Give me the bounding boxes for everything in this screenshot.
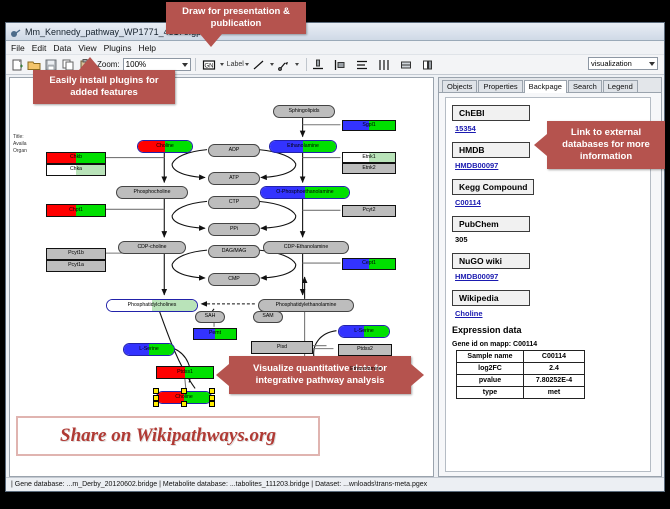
metabolite-node-cmp[interactable]: CMP [208, 273, 260, 286]
line-icon[interactable] [252, 58, 266, 72]
table-row: log2FC 2.4 [457, 363, 585, 375]
group-icon[interactable] [399, 58, 413, 72]
toolbar-divider-2 [306, 58, 307, 71]
node-label: Choline [175, 395, 193, 400]
metabolite-node-choline_top[interactable]: Choline [137, 140, 193, 153]
callout-draw-arrow-icon [200, 34, 222, 47]
canvas-availability-label: Availa [13, 141, 27, 148]
callout-visualize-arrow-right-icon [411, 364, 424, 386]
db-name-chebi: ChEBI [452, 105, 530, 121]
node-label: SAM [262, 314, 273, 319]
metabolite-node-lserine_right[interactable]: L-Serine [338, 325, 390, 338]
tab-search[interactable]: Search [568, 80, 602, 92]
table-row: Sample name C00114 [457, 351, 585, 363]
callout-plugins-arrow-icon [79, 57, 101, 70]
metabolite-node-sphingolipids[interactable]: Sphingolipids [273, 105, 335, 118]
row-value-type: met [524, 387, 585, 399]
selection-handle[interactable] [209, 388, 215, 394]
anchor-icon[interactable] [277, 58, 291, 72]
metabolite-node-cdp_ethanolamine[interactable]: CDP-Ethanolamine [263, 241, 349, 254]
node-label: Sgpl1 [362, 123, 375, 128]
node-label: Pcyt1b [68, 251, 84, 256]
menu-item-file[interactable]: File [11, 43, 25, 53]
node-label: Chka [70, 167, 82, 172]
table-row: pvalue 7.80252E-4 [457, 375, 585, 387]
menu-item-view[interactable]: View [78, 43, 96, 53]
gene-node-chkb[interactable]: Chkb [46, 152, 106, 164]
gene-node-etnk1[interactable]: Etnk1 [342, 152, 396, 163]
db-pubchem: PubChem 305 [452, 214, 650, 244]
gene-node-pcyt1a[interactable]: Pcyt1a [46, 260, 106, 272]
gene-node-pemt[interactable]: Pemt [193, 328, 237, 340]
menu-item-edit[interactable]: Edit [32, 43, 47, 53]
metabolite-node-ppi[interactable]: PPi [208, 223, 260, 236]
row-key-type: type [457, 387, 524, 399]
expression-table: Sample name C00114 log2FC 2.4 pvalue 7.8… [456, 350, 585, 399]
chevron-down-icon [649, 62, 655, 66]
metabolite-node-dagmag[interactable]: DAG/MAG [208, 245, 260, 258]
share-banner-text: Share on Wikipathways.org [60, 425, 276, 447]
node-label: SAH [205, 314, 216, 319]
gene-node-sgpl1[interactable]: Sgpl1 [342, 120, 396, 131]
align-bottom-icon[interactable] [311, 58, 325, 72]
node-label: ADP [229, 148, 240, 153]
menu-item-help[interactable]: Help [139, 43, 156, 53]
node-label: Sphingolipids [289, 109, 320, 114]
metabolite-node-atp[interactable]: ATP [208, 172, 260, 185]
callout-draw: Draw for presentation & publication [166, 2, 306, 34]
callout-links: Link to external databases for more info… [547, 121, 665, 169]
row-key-sample-name: Sample name [457, 351, 524, 363]
chevron-down-icon [182, 63, 188, 67]
node-label: Pcyt2 [363, 208, 376, 213]
node-label: Etnk1 [362, 155, 375, 160]
callout-links-text: Link to external databases for more info… [553, 127, 659, 163]
gene-id-on-mapp: Gene id on mapp: C00114 [452, 341, 650, 348]
toolbar-divider [195, 58, 196, 71]
db-name-hmdb: HMDB [452, 142, 530, 158]
node-label: Ethanolamine [287, 144, 319, 149]
selection-handle[interactable] [153, 401, 159, 407]
row-value-sample-name: C00114 [524, 351, 585, 363]
gene-node-pcyt1b[interactable]: Pcyt1b [46, 248, 106, 260]
line-dropdown-caret-icon[interactable] [270, 63, 274, 66]
node-label: Phosphocholine [134, 190, 171, 195]
metabolite-node-adp[interactable]: ADP [208, 144, 260, 157]
node-label: ATP [229, 176, 239, 181]
anchor-dropdown-caret-icon[interactable] [295, 63, 299, 66]
node-label: PPi [230, 227, 238, 232]
canvas-title-label: Title: [13, 134, 27, 141]
callout-plugins-text: Easily install plugins for added feature… [39, 75, 169, 99]
zoom-value: 100% [126, 60, 146, 69]
node-label: CDP-Ethanolamine [284, 245, 328, 250]
side-tabs: Objects Properties Backpage Search Legen… [439, 78, 661, 93]
db-kegg: Kegg Compound C00114 [452, 177, 650, 207]
node-label: Cept1 [362, 261, 376, 266]
node-label: Pisd [277, 345, 287, 350]
metabolite-node-cdp_choline[interactable]: CDP-choline [118, 241, 186, 254]
node-label: CDP-choline [137, 245, 166, 250]
metabolite-node-o_phosphoethanolamine[interactable]: O-Phosphoethanolamine [260, 186, 350, 199]
db-link-kegg[interactable]: C00114 [455, 198, 650, 207]
selection-handle[interactable] [153, 395, 159, 401]
visualization-select[interactable]: visualization [588, 57, 658, 70]
node-label: O-Phosphoethanolamine [276, 190, 333, 195]
new-icon[interactable] [10, 58, 24, 72]
expression-data-heading: Expression data [452, 325, 650, 335]
gene-node-chpt1[interactable]: Chpt1 [46, 204, 106, 217]
callout-links-arrow-icon [534, 134, 547, 156]
callout-visualize: Visualize quantitative data for integrat… [229, 356, 411, 394]
metabolite-node-lserine_left[interactable]: L-Serine [123, 343, 175, 356]
db-wikipedia: Wikipedia Choline [452, 288, 650, 318]
label-tool-label[interactable]: Label [227, 61, 244, 68]
callout-draw-text: Draw for presentation & publication [172, 6, 300, 30]
row-key-pvalue: pvalue [457, 375, 524, 387]
gene-node-cept1[interactable]: Cept1 [342, 258, 396, 270]
metabolite-node-sam[interactable]: SAM [253, 311, 283, 323]
gene-node-ptdss1[interactable]: Ptdss1 [156, 366, 214, 379]
node-label: Pcyt1a [68, 263, 84, 268]
db-link-nugowiki[interactable]: HMDB00097 [455, 272, 650, 281]
datanode-icon[interactable]: GN [202, 58, 216, 72]
metabolite-node-ctp[interactable]: CTP [208, 196, 260, 209]
node-label: DAG/MAG [222, 249, 247, 254]
selection-handle[interactable] [181, 388, 187, 394]
menu-item-plugins[interactable]: Plugins [104, 43, 132, 53]
canvas-title-meta: Title: Availa Organ [13, 134, 27, 155]
node-label: Chkb [70, 155, 82, 160]
row-value-log2fc: 2.4 [524, 363, 585, 375]
metabolite-node-ethanolamine[interactable]: Ethanolamine [269, 140, 337, 153]
share-banner: Share on Wikipathways.org [16, 416, 320, 456]
db-name-nugowiki: NuGO wiki [452, 253, 530, 269]
label-dropdown-caret-icon[interactable] [245, 63, 249, 66]
row-key-log2fc: log2FC [457, 363, 524, 375]
node-label: L-Serine [139, 347, 159, 352]
gene-node-pisd[interactable]: Pisd [251, 341, 313, 354]
node-label: CTP [229, 200, 239, 205]
db-nugowiki: NuGO wiki HMDB00097 [452, 251, 650, 281]
metabolite-node-phosphocholine[interactable]: Phosphocholine [116, 186, 188, 199]
selection-handle[interactable] [209, 395, 215, 401]
menu-item-data[interactable]: Data [53, 43, 71, 53]
status-text: | Gene database: ...m_Derby_20120602.bri… [11, 481, 427, 488]
gene-node-pcyt2[interactable]: Pcyt2 [342, 205, 396, 217]
selection-handle[interactable] [153, 388, 159, 394]
db-name-wikipedia: Wikipedia [452, 290, 530, 306]
selection-handle[interactable] [209, 401, 215, 407]
tab-objects[interactable]: Objects [442, 80, 477, 92]
node-label: Etnk2 [362, 166, 375, 171]
screenshot-root: Mm_Kennedy_pathway_WP1771_45176.gpml Fil… [0, 0, 670, 509]
svg-text:GN: GN [204, 63, 213, 69]
metabolite-node-phosphatidylcholines[interactable]: Phosphatidylcholines [106, 299, 198, 312]
gene-node-chka[interactable]: Chka [46, 164, 106, 176]
gene-node-etnk2[interactable]: Etnk2 [342, 163, 396, 174]
tab-properties[interactable]: Properties [478, 80, 522, 92]
db-name-pubchem: PubChem [452, 216, 530, 232]
node-label: CMP [228, 277, 240, 282]
callout-plugins: Easily install plugins for added feature… [33, 70, 175, 104]
order-icon[interactable] [421, 58, 435, 72]
callout-visualize-arrow-icon [216, 364, 229, 386]
title-bar: Mm_Kennedy_pathway_WP1771_45176.gpml [6, 23, 664, 41]
canvas-organism-label: Organ [13, 148, 27, 155]
tab-backpage[interactable]: Backpage [524, 80, 567, 93]
datanode-dropdown-caret-icon[interactable] [220, 63, 224, 66]
node-label: Ptdss1 [177, 370, 193, 375]
db-name-kegg: Kegg Compound [452, 179, 534, 195]
menu-bar: File Edit Data View Plugins Help [6, 41, 664, 55]
app-logo-icon [10, 26, 21, 37]
tab-legend[interactable]: Legend [603, 80, 638, 92]
selection-handle[interactable] [181, 401, 187, 407]
status-bar: | Gene database: ...m_Derby_20120602.bri… [6, 477, 664, 491]
db-link-wikipedia[interactable]: Choline [455, 309, 650, 318]
node-label: Pemt [209, 331, 221, 336]
align-left-icon[interactable] [333, 58, 347, 72]
node-label: Chpt1 [69, 208, 83, 213]
node-label: L-Serine [354, 329, 374, 334]
db-value-pubchem: 305 [455, 235, 650, 244]
metabolite-node-sah[interactable]: SAH [195, 311, 225, 323]
visualization-value: visualization [591, 59, 632, 68]
node-label: Choline [156, 144, 174, 149]
stack-icon[interactable] [355, 58, 369, 72]
node-label: Phosphatidylcholines [128, 303, 177, 308]
table-row: type met [457, 387, 585, 399]
gene-node-ptdss2[interactable]: Ptdss2 [338, 344, 392, 356]
node-label: Ethanolamine [350, 367, 382, 372]
distribute-icon[interactable] [377, 58, 391, 72]
node-label: Phosphatidylethanolamine [276, 303, 337, 308]
row-value-pvalue: 7.80252E-4 [524, 375, 585, 387]
node-label: Ptdss2 [357, 347, 373, 352]
